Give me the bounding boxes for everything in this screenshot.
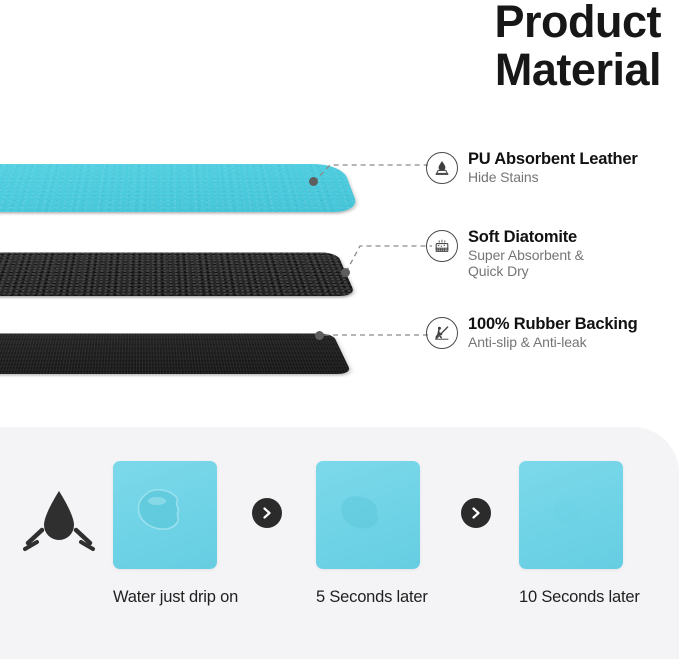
water-puddle-medium bbox=[316, 461, 420, 569]
demo-swatch-step-1 bbox=[113, 461, 217, 569]
demo-caption-step-1: Water just drip on bbox=[113, 588, 217, 607]
feature-rubber-backing: 100% Rubber Backing Anti-slip & Anti-lea… bbox=[426, 315, 638, 351]
feature-subtitle-line: Anti-slip & Anti-leak bbox=[468, 335, 638, 351]
absorbent-droplet-icon bbox=[426, 152, 458, 184]
title-line-2: Material bbox=[494, 46, 661, 94]
diatomite-block-icon bbox=[426, 230, 458, 262]
water-puddle-large bbox=[113, 461, 217, 569]
infographic-canvas: Product Material PU Absorbent Leather Hi… bbox=[0, 0, 679, 659]
layer-dot-1 bbox=[309, 177, 318, 186]
feature-subtitle: Anti-slip & Anti-leak bbox=[468, 335, 638, 351]
demo-swatch-step-3 bbox=[519, 461, 623, 569]
feature-subtitle: Hide Stains bbox=[468, 170, 638, 186]
step-arrow-1 bbox=[252, 498, 282, 528]
title-line-1: Product bbox=[494, 0, 661, 47]
feature-pu-absorbent-leather: PU Absorbent Leather Hide Stains bbox=[426, 150, 638, 186]
middle-diatomite-layer bbox=[0, 253, 356, 296]
feature-subtitle-line: Quick Dry bbox=[468, 264, 584, 280]
feature-soft-diatomite: Soft Diatomite Super Absorbent & Quick D… bbox=[426, 228, 584, 280]
water-puddle-none bbox=[519, 461, 623, 569]
demo-caption-step-3: 10 Seconds later bbox=[519, 588, 623, 607]
feature-subtitle: Super Absorbent & Quick Dry bbox=[468, 248, 584, 279]
water-splash-icon bbox=[22, 483, 96, 553]
feature-subtitle-line: Hide Stains bbox=[468, 170, 638, 186]
step-arrow-2 bbox=[461, 498, 491, 528]
layer-dot-2 bbox=[341, 268, 350, 277]
layer-dot-3 bbox=[315, 331, 324, 340]
feature-title: PU Absorbent Leather bbox=[468, 150, 638, 168]
feature-subtitle-line: Super Absorbent & bbox=[468, 248, 584, 264]
feature-title: 100% Rubber Backing bbox=[468, 315, 638, 333]
anti-slip-icon bbox=[426, 317, 458, 349]
page-title: Product Material bbox=[494, 0, 661, 94]
feature-title: Soft Diatomite bbox=[468, 228, 584, 246]
top-leather-layer bbox=[0, 164, 360, 212]
demo-caption-step-2: 5 Seconds later bbox=[316, 588, 420, 607]
bottom-rubber-layer bbox=[0, 333, 352, 374]
demo-swatch-step-2 bbox=[316, 461, 420, 569]
